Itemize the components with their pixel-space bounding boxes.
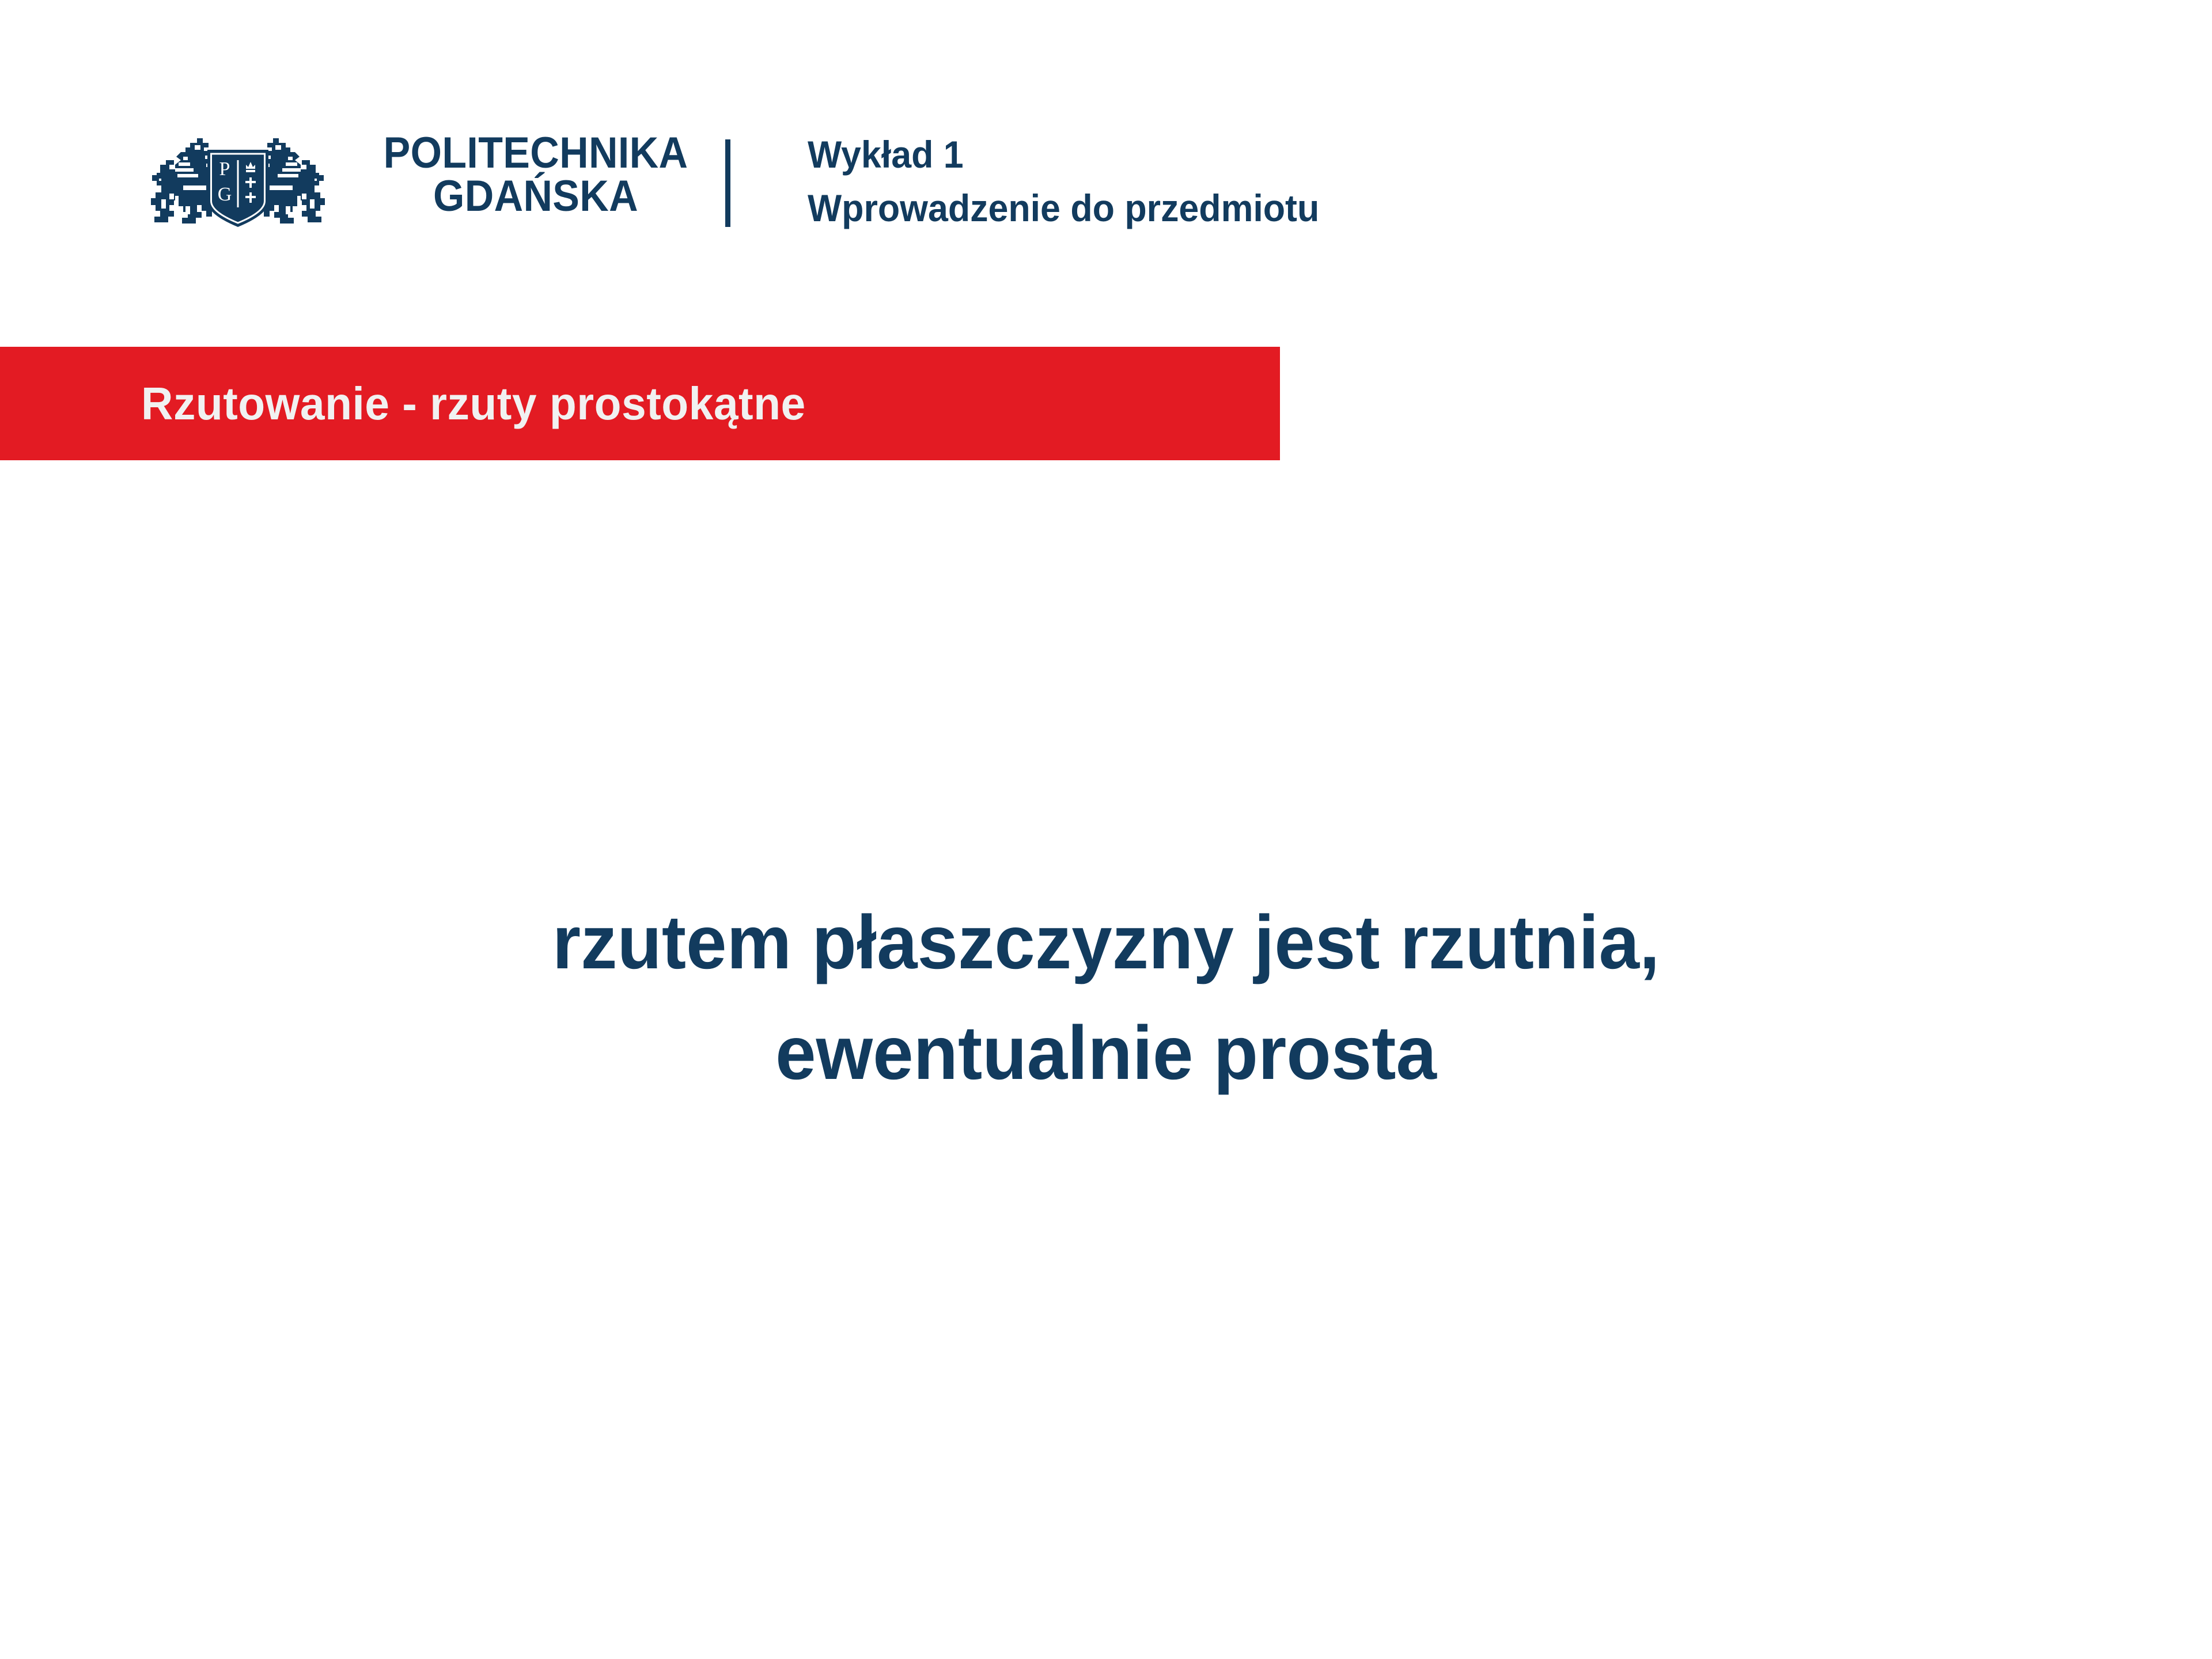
lecture-number: Wykład 1 — [808, 128, 1628, 181]
slide-header: P G POLITECHNIKA GDAŃSKA Wykład 1 Wprowa… — [0, 0, 2212, 271]
politechnika-gdanska-crest-icon: P G — [126, 128, 350, 237]
lecture-info: Wykład 1 Wprowadzenie do przedmiotu — [808, 128, 1672, 235]
section-title-label: Rzutowanie - rzuty prostokątne — [141, 347, 806, 460]
svg-text:G: G — [218, 184, 232, 205]
svg-text:P: P — [219, 158, 230, 180]
body-statement-line-2: ewentualnie prosta — [398, 998, 1814, 1108]
body-statement: rzutem płaszczyzny jest rzutnia, ewentua… — [398, 887, 1814, 1108]
body-statement-line-1: rzutem płaszczyzny jest rzutnia, — [398, 887, 1814, 998]
header-divider — [725, 139, 730, 227]
brand-wordmark: POLITECHNIKA GDAŃSKA — [382, 131, 690, 218]
slide-body: rzutem płaszczyzny jest rzutnia, ewentua… — [0, 887, 2212, 1233]
brand-wordmark-line-2: GDAŃSKA — [382, 175, 690, 218]
brand-wordmark-line-1: POLITECHNIKA — [382, 131, 690, 175]
section-title-band: Rzutowanie - rzuty prostokątne — [0, 347, 1280, 460]
lecture-subtitle: Wprowadzenie do przedmiotu — [808, 181, 1628, 235]
